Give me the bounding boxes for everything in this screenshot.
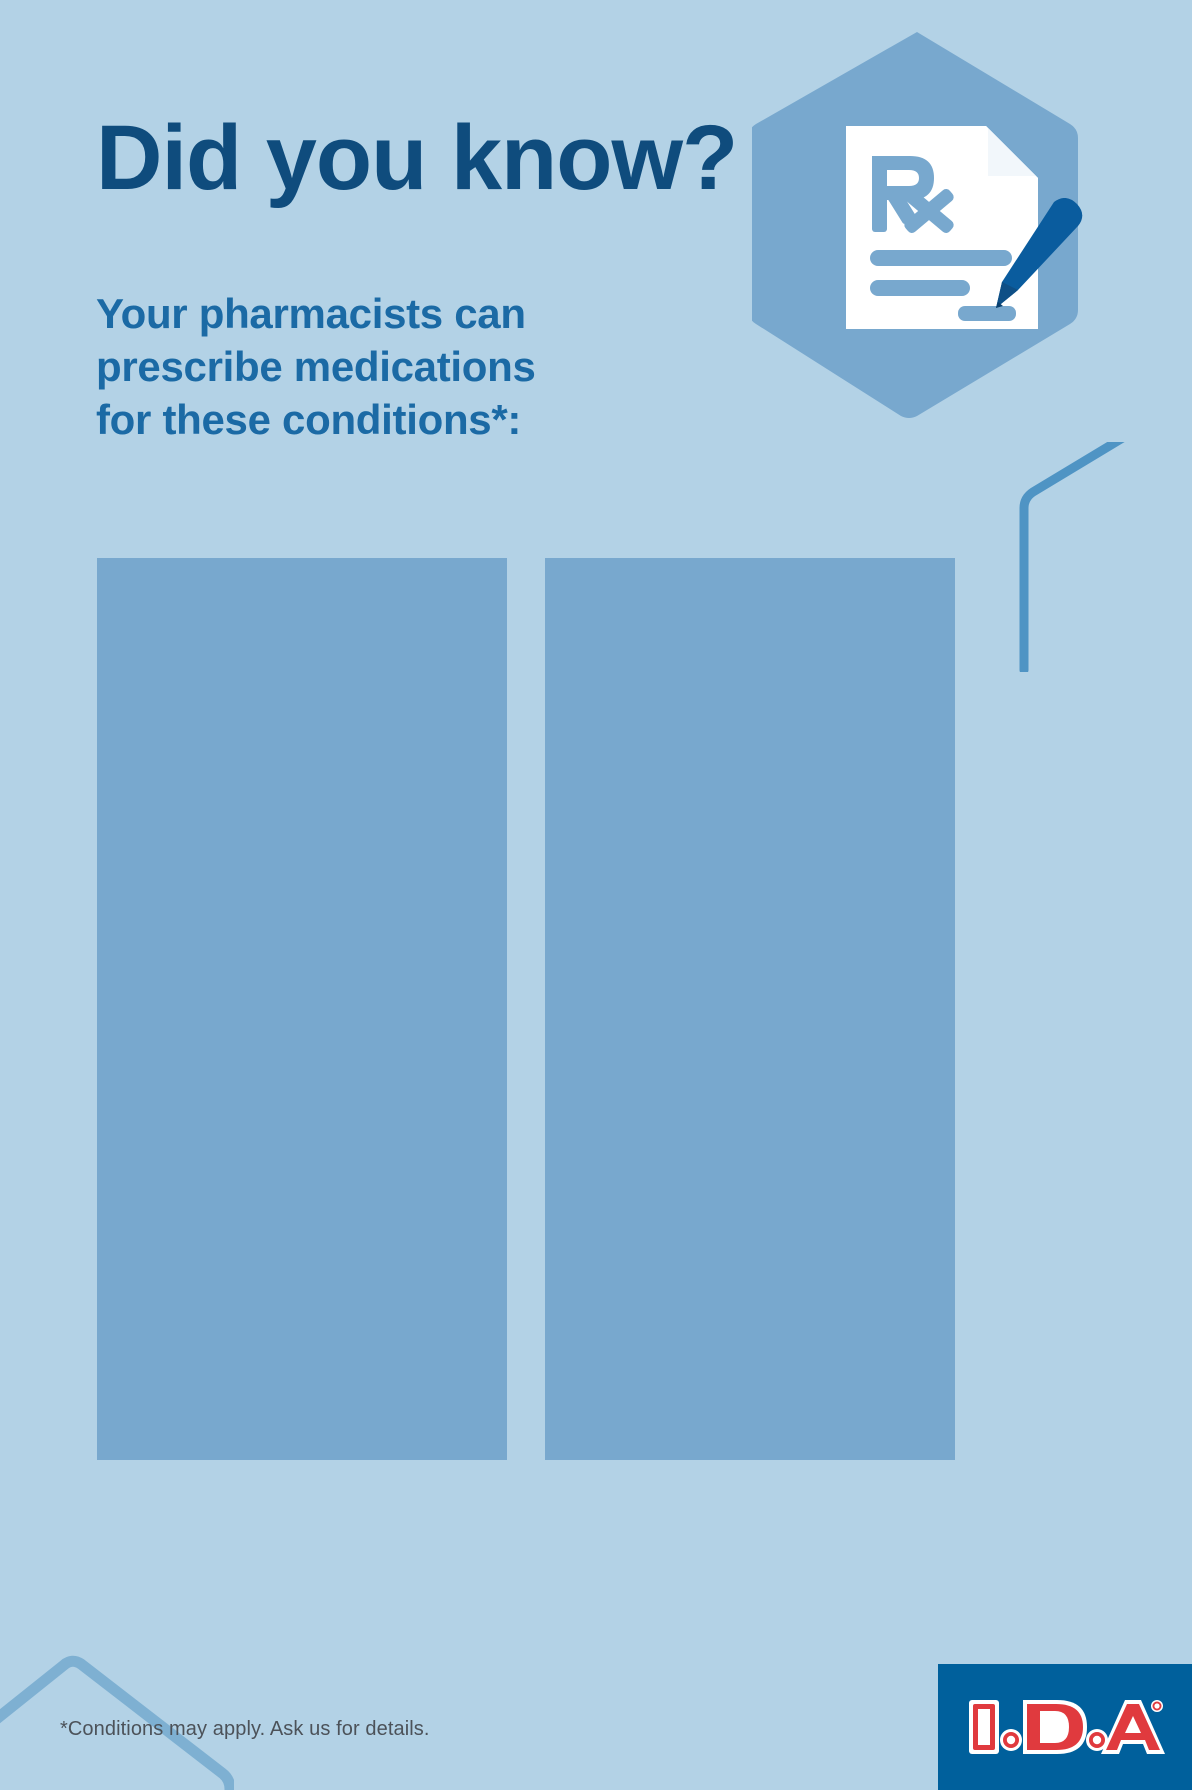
poster-canvas: Did you know? Your pharmacists can presc… — [0, 0, 1192, 1790]
pencil-icon — [982, 198, 1098, 322]
hexagon-outline-bottom-left-shape — [0, 1625, 234, 1790]
ida-logo: I·D·A — [938, 1664, 1192, 1790]
ida-logo-mark — [965, 1692, 1165, 1762]
subtitle-line-2: prescribe medications — [96, 341, 536, 394]
footnote-disclaimer: *Conditions may apply. Ask us for detail… — [60, 1718, 430, 1741]
subtitle-line-1: Your pharmacists can — [96, 288, 536, 341]
conditions-column-left — [97, 558, 507, 1460]
page-subtitle: Your pharmacists can prescribe medicatio… — [96, 288, 536, 447]
conditions-column-right — [545, 558, 955, 1460]
hexagon-outline-right-shape — [964, 442, 1192, 672]
page-title: Did you know? — [96, 112, 737, 204]
subtitle-line-3: for these conditions*: — [96, 394, 536, 447]
